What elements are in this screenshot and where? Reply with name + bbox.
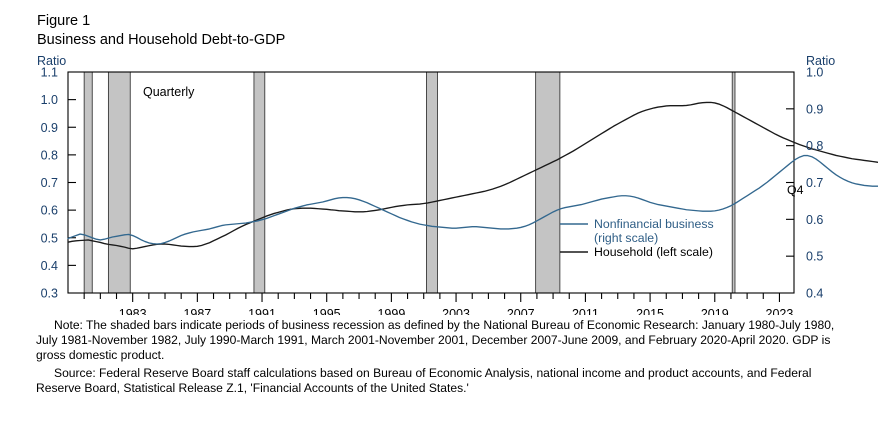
y-tick-label-left: 0.7 bbox=[41, 176, 58, 190]
legend-label-business-line2: (right scale) bbox=[594, 231, 658, 245]
recession-band bbox=[536, 72, 560, 293]
y-tick-label-left: 0.3 bbox=[41, 287, 58, 301]
frequency-label: Quarterly bbox=[143, 85, 195, 99]
recession-band bbox=[254, 72, 265, 293]
y-tick-label-left: 0.5 bbox=[41, 231, 58, 245]
y-tick-label-right: 0.9 bbox=[806, 102, 823, 116]
x-tick-label: 2007 bbox=[507, 307, 535, 315]
recession-bands-group bbox=[84, 72, 735, 293]
y-axis-tick-labels-right: 0.40.50.60.70.80.91.0 bbox=[806, 66, 823, 301]
x-tick-label: 2003 bbox=[442, 307, 470, 315]
x-tick-label: 1999 bbox=[377, 307, 405, 315]
legend-label-business-line1: Nonfinancial business bbox=[594, 217, 714, 231]
note-body: Note: The shaded bars indicate periods o… bbox=[36, 318, 834, 362]
x-tick-label: 1987 bbox=[183, 307, 211, 315]
y-tick-label-right: 0.7 bbox=[806, 176, 823, 190]
y-tick-label-right: 1.0 bbox=[806, 66, 823, 80]
recession-band bbox=[84, 72, 92, 293]
recession-band bbox=[426, 72, 437, 293]
x-tick-label: 2015 bbox=[636, 307, 664, 315]
x-tick-label: 2011 bbox=[572, 307, 599, 315]
y-tick-label-left: 0.9 bbox=[41, 121, 58, 135]
chart-plot-area: 0.30.40.50.60.70.80.91.01.1 0.40.50.60.7… bbox=[0, 0, 878, 315]
y-tick-label-right: 0.6 bbox=[806, 213, 823, 227]
x-axis-ticks bbox=[84, 293, 779, 302]
figure-container: Figure 1 Business and Household Debt-to-… bbox=[0, 0, 878, 422]
x-axis-tick-labels: 1983198719911995199920032007201120152019… bbox=[119, 307, 794, 315]
x-tick-label: 2019 bbox=[701, 307, 729, 315]
source-body: Source: Federal Reserve Board staff calc… bbox=[36, 366, 811, 395]
x-tick-label: 1991 bbox=[248, 307, 276, 315]
recession-band bbox=[732, 72, 735, 293]
x-tick-label: 1983 bbox=[119, 307, 147, 315]
y-tick-label-left: 0.8 bbox=[41, 148, 58, 162]
recession-band bbox=[108, 72, 130, 293]
y-tick-label-left: 0.4 bbox=[41, 259, 58, 273]
y-tick-label-left: 0.6 bbox=[41, 204, 58, 218]
y-tick-label-left: 1.1 bbox=[41, 66, 58, 80]
x-tick-label: 1995 bbox=[313, 307, 341, 315]
x-tick-label: 2023 bbox=[766, 307, 794, 315]
y-tick-label-right: 0.8 bbox=[806, 139, 823, 153]
endpoint-label: Q4 bbox=[787, 183, 804, 197]
y-tick-label-right: 0.5 bbox=[806, 250, 823, 264]
y-tick-label-right: 0.4 bbox=[806, 287, 823, 301]
y-axis-tick-labels-left: 0.30.40.50.60.70.80.91.01.1 bbox=[41, 66, 58, 301]
source-text: Source: Federal Reserve Board staff calc… bbox=[36, 366, 848, 396]
legend-label-household: Household (left scale) bbox=[594, 245, 713, 259]
note-text: Note: The shaded bars indicate periods o… bbox=[36, 318, 848, 363]
y-tick-label-left: 1.0 bbox=[41, 93, 58, 107]
legend: Nonfinancial business (right scale) Hous… bbox=[560, 217, 714, 259]
